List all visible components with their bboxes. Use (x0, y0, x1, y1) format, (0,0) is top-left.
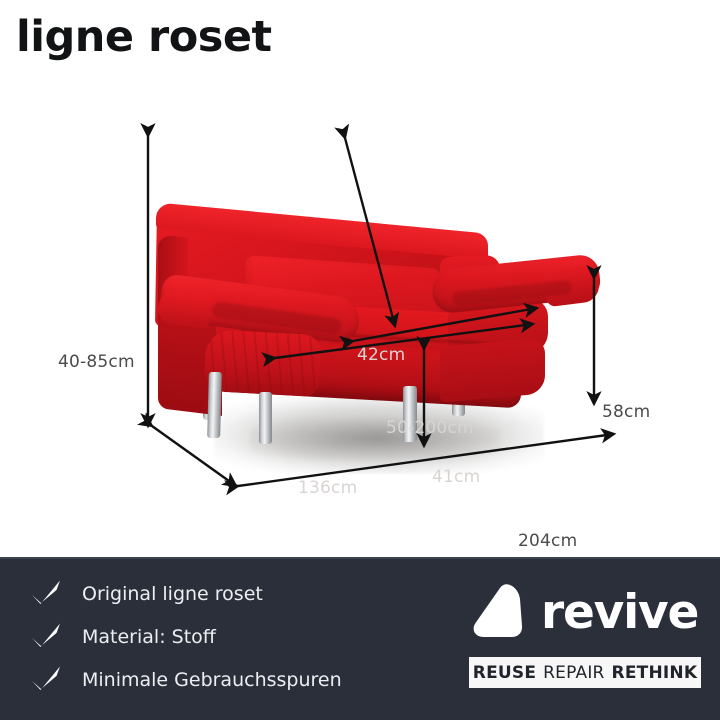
tagline-reuse: REUSE (473, 663, 536, 683)
dim-label-seat-depth: 50-200cm (386, 418, 474, 438)
sofa-leg-middle (259, 392, 272, 444)
check-icon (26, 577, 66, 611)
revive-tagline: REUSE REPAIR RETHINK (469, 657, 701, 688)
dim-label-seat-width: 136cm (298, 478, 357, 498)
sofa-illustration (0, 96, 720, 556)
leaf-mark-icon (469, 581, 531, 643)
dim-label-arm-height: 58cm (602, 402, 650, 422)
sofa-armrest-left-tip (157, 290, 212, 328)
sofa-base-right (440, 337, 545, 402)
tagline-rethink: RETHINK (612, 663, 698, 683)
check-icon (26, 620, 66, 654)
tagline-repair: REPAIR (543, 663, 604, 683)
dim-label-back-height: 40-85cm (58, 352, 135, 372)
feature-label: Material: Stoff (82, 626, 216, 648)
sofa-leg-front-left (207, 372, 222, 438)
revive-logo: revive REUSE REPAIR RETHINK (469, 575, 701, 688)
feature-item: Minimale Gebrauchsspuren (26, 659, 342, 700)
feature-item: Original ligne roset (26, 573, 342, 614)
feature-label: Minimale Gebrauchsspuren (82, 669, 342, 691)
info-banner: Original ligne roset Material: Stoff Min… (0, 557, 720, 720)
check-icon (26, 663, 66, 697)
feature-item: Material: Stoff (26, 616, 342, 657)
dim-label-seat-height: 41cm (432, 467, 480, 487)
feature-label: Original ligne roset (82, 583, 263, 605)
product-listing-image: ligne roset (0, 0, 720, 720)
brand-logo: ligne roset (16, 16, 272, 59)
dim-label-backrest-depth: 42cm (357, 345, 405, 365)
feature-list: Original ligne roset Material: Stoff Min… (26, 573, 342, 702)
revive-wordmark: revive (541, 589, 698, 636)
product-photo: 40-85cm 42cm 50-200cm 136cm 41cm 58cm 11… (0, 96, 720, 556)
dim-label-total-width: 204cm (518, 531, 577, 551)
